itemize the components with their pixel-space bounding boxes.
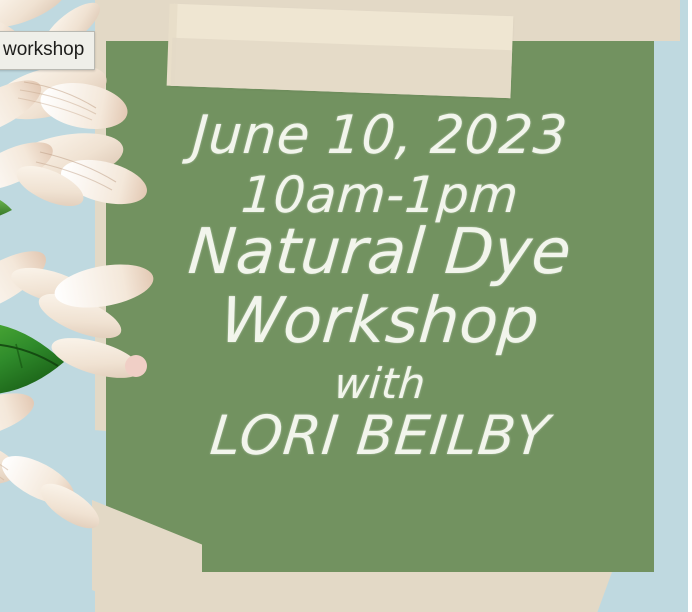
screenshot-canvas: June 10, 2023 10am-1pm Natural Dye Works…: [0, 0, 692, 612]
link-title-tooltip: workshop: [0, 31, 95, 70]
masking-tape-icon: [171, 4, 514, 98]
right-edge-gutter: [688, 0, 692, 612]
green-poster-sheet: [106, 41, 654, 572]
sky-strip-right: [654, 41, 690, 572]
botanical-flower-illustration: [0, 0, 154, 546]
